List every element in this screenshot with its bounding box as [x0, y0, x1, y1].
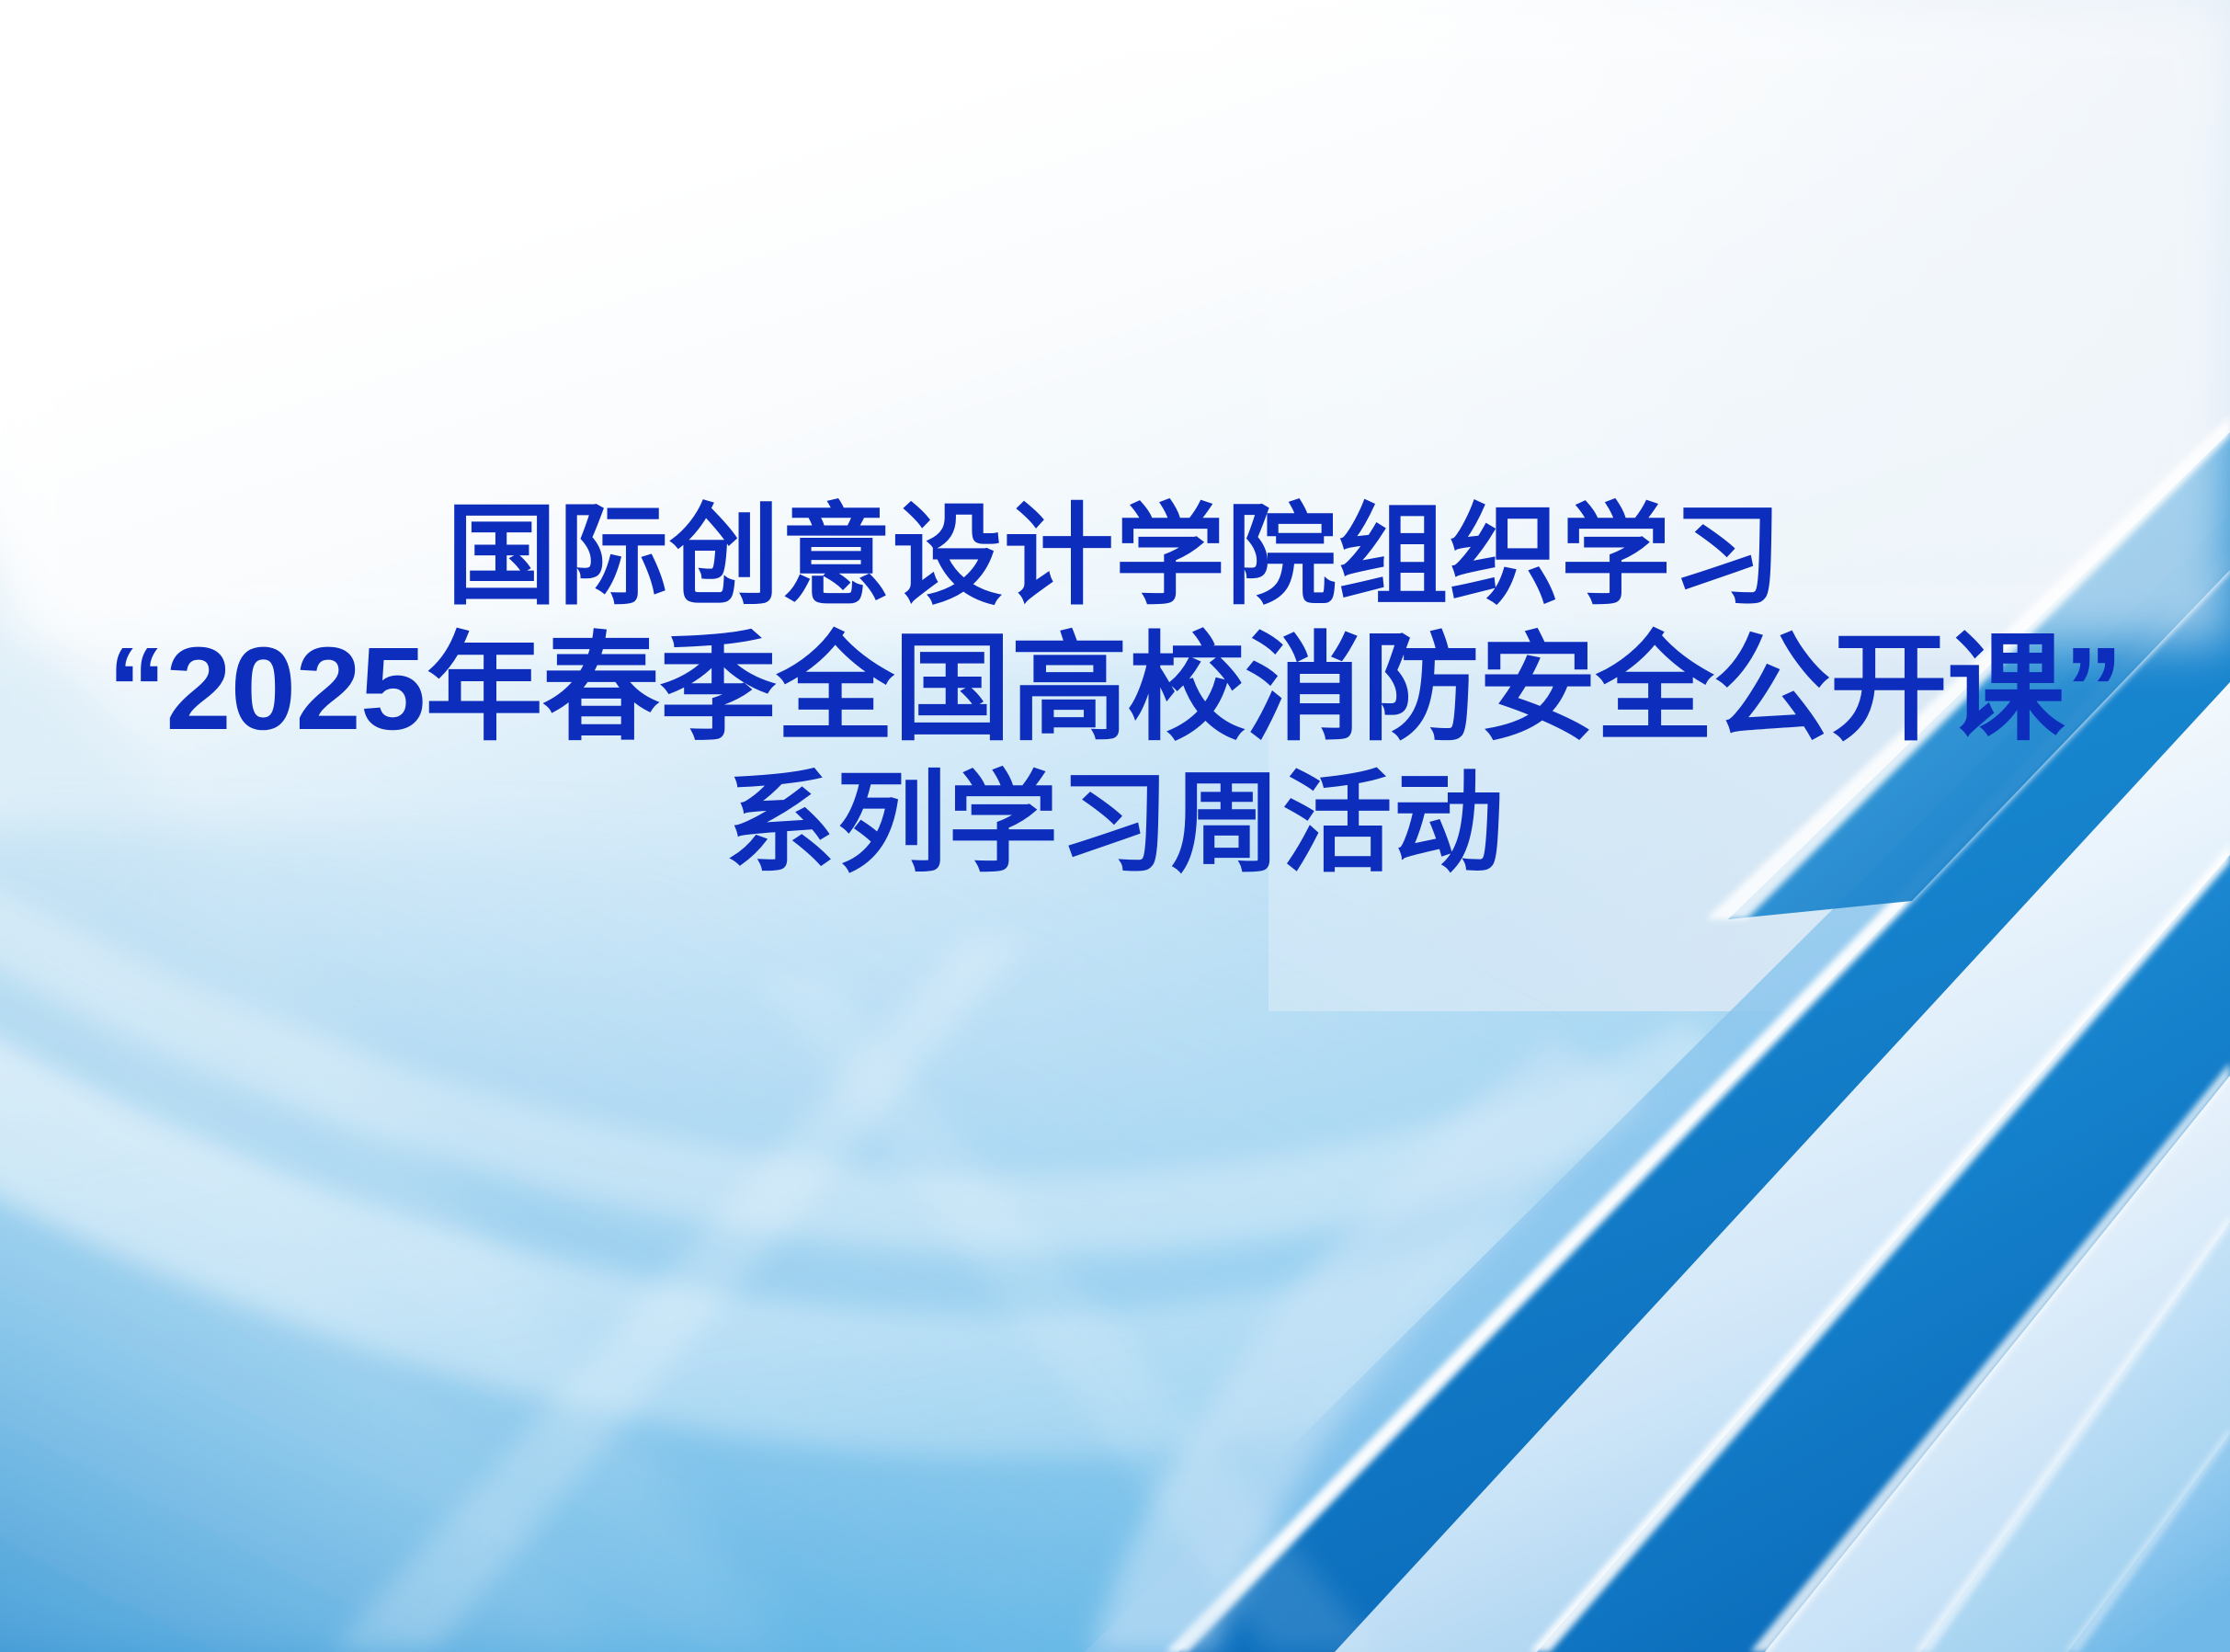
background-top-veil: [0, 0, 2230, 644]
background-artwork: [0, 0, 2230, 1652]
slide-canvas: 国际创意设计学院组织学习 “2025年春季全国高校消防安全公开课” 系列学习周活…: [0, 0, 2230, 1652]
